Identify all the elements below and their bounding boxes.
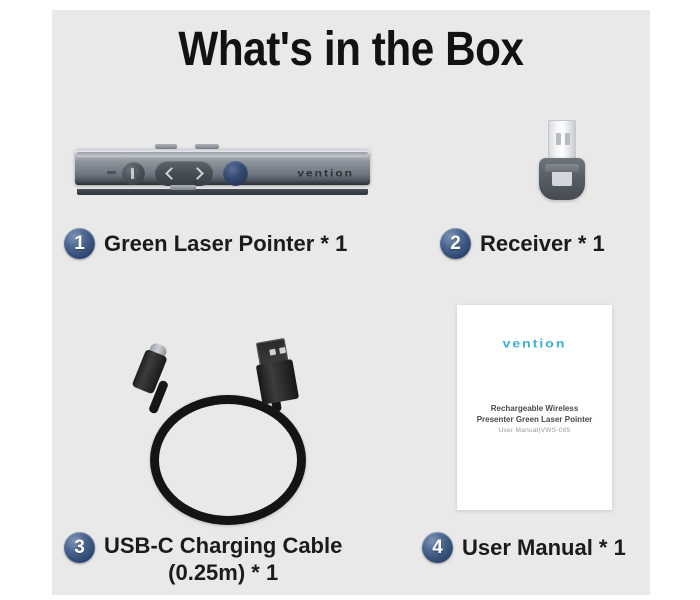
device-power-button-icon: [122, 162, 145, 185]
item-3-label-row: 3 USB-C Charging Cable (0.25m) * 1: [64, 532, 342, 586]
device-body: VENTION: [75, 149, 370, 185]
content-panel: What's in the Box VENTION 1 Green Laser: [52, 10, 650, 595]
item-1-label-row: 1 Green Laser Pointer * 1: [64, 228, 347, 259]
device-dash-marking: [107, 171, 116, 174]
badge-2: 2: [440, 228, 471, 259]
manual-cover-title: Rechargeable Wireless Presenter Green La…: [467, 403, 602, 425]
receiver-slot-right: [565, 133, 570, 145]
usb-a-shell: [256, 359, 299, 405]
badge-1: 1: [64, 228, 95, 259]
item-1-label: Green Laser Pointer * 1: [104, 228, 347, 259]
badge-4: 4: [422, 532, 453, 563]
item-4-label-row: 4 User Manual * 1: [422, 532, 626, 563]
usb-receiver-illustration: [539, 120, 585, 200]
receiver-body: [539, 158, 585, 200]
device-brand-logo: VENTION: [297, 167, 354, 179]
device-page-buttons: [155, 161, 213, 186]
device-top-edge: [77, 152, 368, 157]
device-bottom-nub: [170, 185, 196, 190]
page-title: What's in the Box: [88, 22, 614, 77]
item-3-label-line1: USB-C Charging Cable: [104, 533, 342, 558]
item-2-label-row: 2 Receiver * 1: [440, 228, 605, 259]
usb-a-pin-left: [269, 349, 276, 356]
laser-pointer-illustration: VENTION: [75, 143, 370, 190]
cable-loop: [150, 395, 306, 525]
item-2-label: Receiver * 1: [480, 228, 605, 259]
receiver-usb-connector: [548, 120, 576, 162]
receiver-slot-left: [556, 133, 561, 145]
item-4-label: User Manual * 1: [462, 532, 626, 563]
manual-brand-logo: VENTION: [457, 336, 612, 350]
usb-a-pin-right: [279, 347, 286, 354]
item-3-label: USB-C Charging Cable (0.25m) * 1: [104, 532, 342, 586]
user-manual-illustration: VENTION Rechargeable Wireless Presenter …: [457, 305, 612, 510]
manual-cover-title-line1: Rechargeable Wireless: [491, 404, 579, 413]
badge-3: 3: [64, 532, 95, 563]
usb-c-cable-illustration: [102, 340, 332, 515]
chevron-right-icon: [191, 167, 204, 180]
manual-cover-subtitle: User Manual|VWS-085: [467, 427, 602, 434]
manual-cover-title-line2: Presenter Green Laser Pointer: [477, 415, 593, 424]
device-laser-button-icon: [223, 161, 248, 186]
item-3-label-line2: (0.25m) * 1: [104, 559, 342, 586]
usb-a-connector: [252, 337, 299, 404]
chevron-left-icon: [165, 167, 178, 180]
device-bottom-edge: [77, 189, 368, 195]
